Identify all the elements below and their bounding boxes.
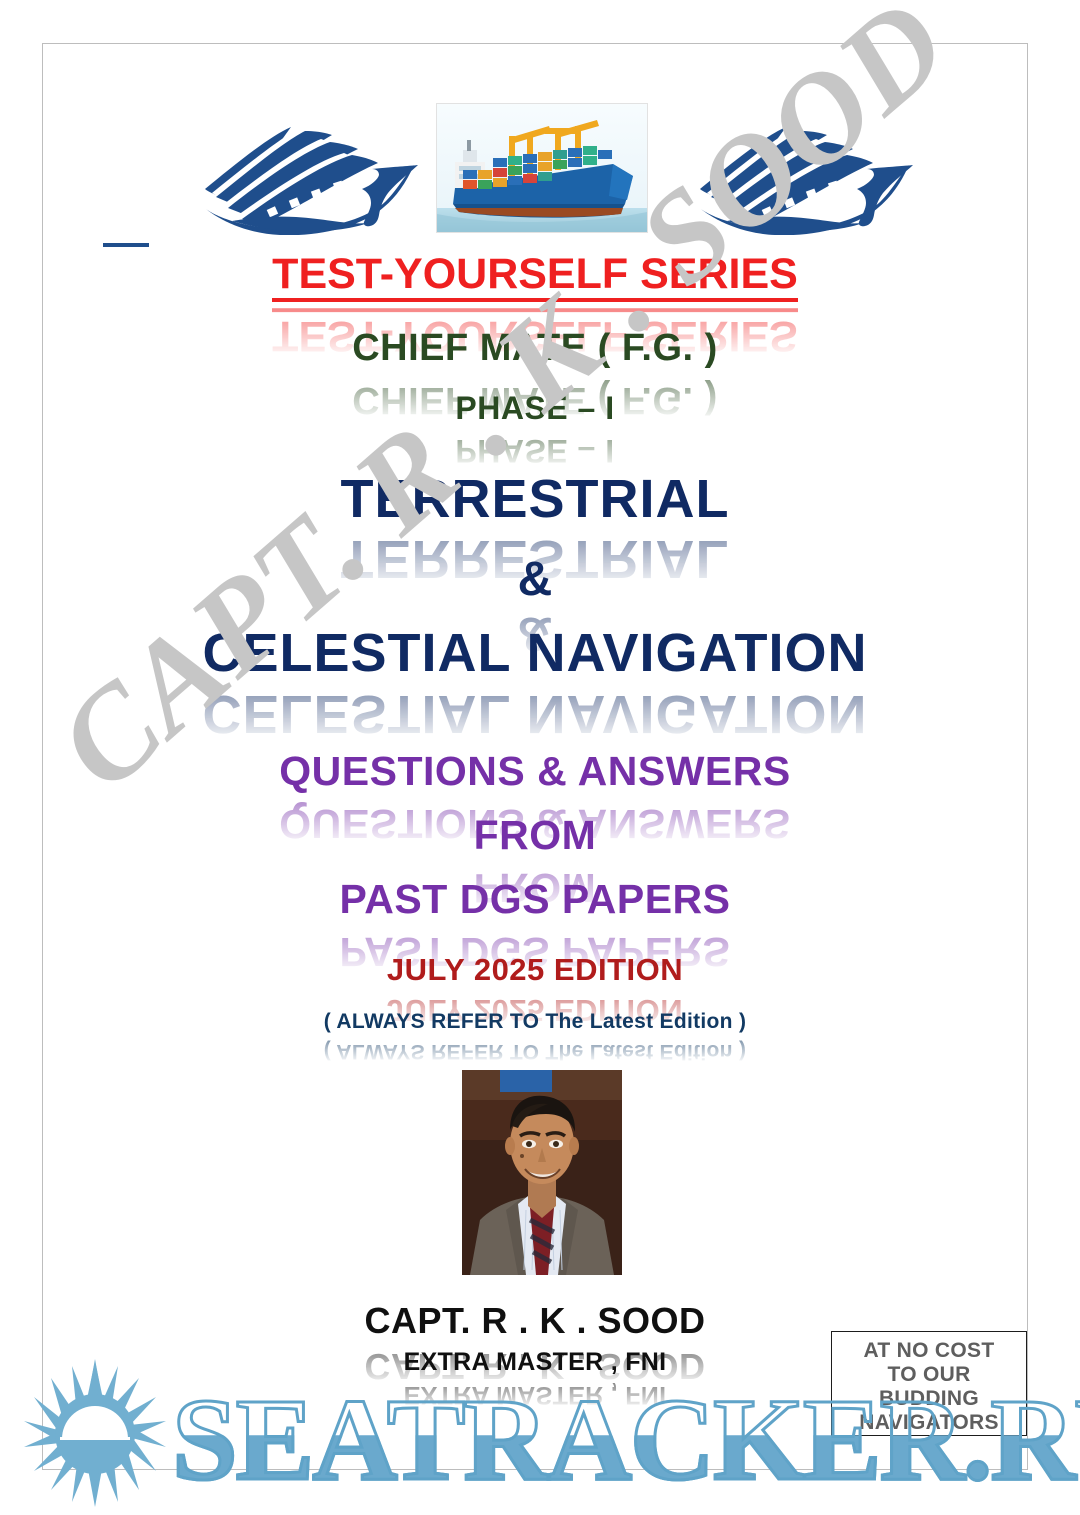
no-cost-notice-box: AT NO COST TO OUR BUDDING NAVIGATORS xyxy=(831,1331,1027,1436)
phase-title-reflection: PHASE – I xyxy=(42,432,1028,469)
content-line-1: QUESTIONS & ANSWERS xyxy=(42,748,1028,795)
cruise-ship-logo-right xyxy=(667,105,917,235)
no-cost-line-3: BUDDING xyxy=(879,1387,979,1411)
edition-note: ( ALWAYS REFER TO The Latest Edition ) xyxy=(42,1010,1028,1034)
cruise-ship-logo-left xyxy=(172,105,422,235)
phase-title: PHASE – I xyxy=(42,390,1028,427)
series-title-text: TEST-YOURSELF SERIES xyxy=(272,252,798,302)
container-ship-photo xyxy=(436,103,648,233)
no-cost-line-2: TO OUR xyxy=(887,1363,970,1387)
sun-starburst-icon xyxy=(20,1359,170,1509)
edition-label: JULY 2025 EDITION xyxy=(42,952,1028,988)
content-line-3: PAST DGS PAPERS xyxy=(42,876,1028,923)
blue-dash-mark xyxy=(103,243,149,247)
subject-line-2-reflection: CELESTIAL NAVIGATION xyxy=(42,683,1028,745)
edition-note-reflection: ( ALWAYS REFER TO The Latest Edition ) xyxy=(42,1039,1028,1063)
exam-title: CHIEF MATE ( F.G. ) xyxy=(42,327,1028,370)
subject-line-1: TERRESTRIAL xyxy=(42,468,1028,530)
header-band xyxy=(42,95,1028,245)
author-portrait-photo xyxy=(462,1070,622,1275)
no-cost-line-4: NAVIGATORS xyxy=(859,1411,999,1435)
document-cover-page: TEST-YOURSELF SERIES TEST-YOURSELF SERIE… xyxy=(0,0,1080,1515)
series-title: TEST-YOURSELF SERIES xyxy=(42,252,1028,302)
subject-ampersand: & xyxy=(42,552,1028,607)
content-line-2: FROM xyxy=(42,812,1028,859)
subject-line-2: CELESTIAL NAVIGATION xyxy=(42,622,1028,684)
no-cost-line-1: AT NO COST xyxy=(864,1339,995,1363)
